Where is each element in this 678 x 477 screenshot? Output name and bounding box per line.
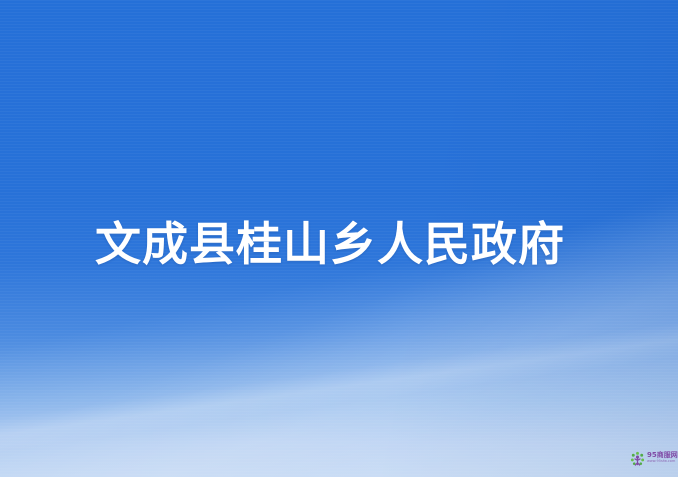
government-banner: 文成县桂山乡人民政府 95商服网 www.95sfw.com — [0, 0, 678, 477]
watermark-site-url: www.95sfw.com — [647, 460, 678, 463]
site-watermark: 95商服网 www.95sfw.com — [630, 446, 676, 470]
page-title: 文成县桂山乡人民政府 — [95, 215, 565, 273]
watermark-site-name: 95商服网 — [647, 452, 678, 459]
watermark-text-group: 95商服网 www.95sfw.com — [647, 452, 678, 463]
people-logo-icon — [630, 451, 645, 466]
